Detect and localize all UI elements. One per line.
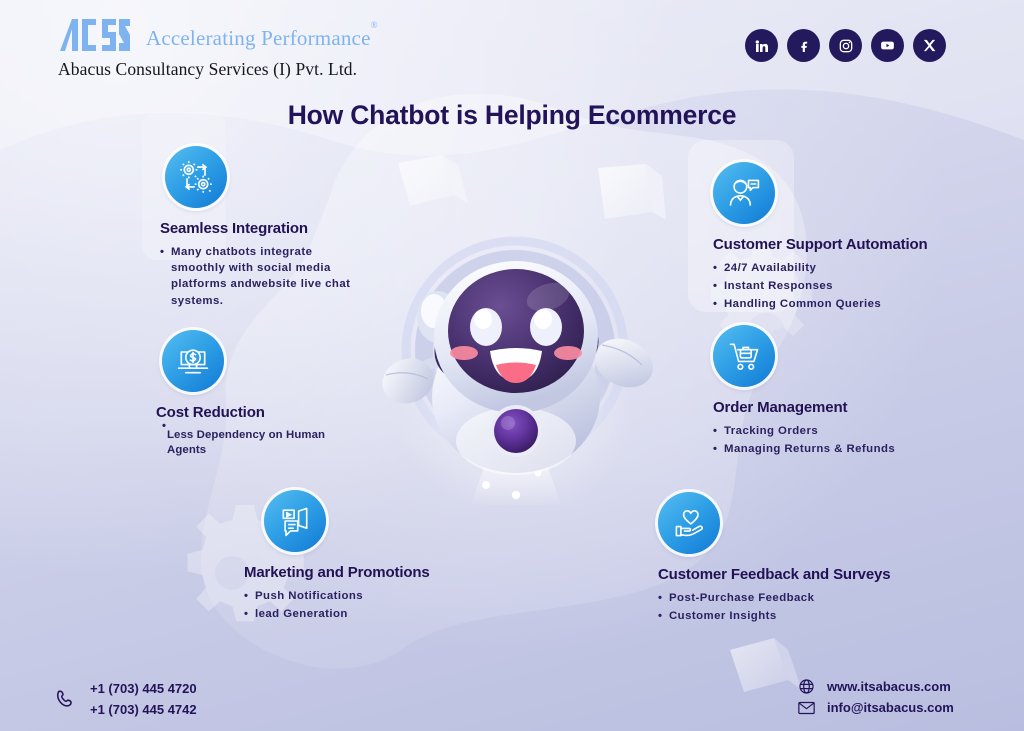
- floating-cube: [730, 638, 802, 692]
- website-text: www.itsabacus.com: [827, 679, 951, 694]
- bullet-item: Post-Purchase Feedback: [658, 590, 898, 606]
- feature-marketing-and-promotions: Marketing and Promotions Push Notificati…: [244, 490, 459, 624]
- feature-bullets: Push Notifications lead Generation: [244, 588, 459, 622]
- x-twitter-icon[interactable]: [913, 29, 946, 62]
- brand-tagline: Accelerating Performance®: [146, 28, 378, 49]
- feature-order-management: Order Management Tracking Orders Managin…: [713, 325, 928, 459]
- support-agent-icon: [713, 162, 775, 224]
- feature-bullets: Post-Purchase Feedback Customer Insights: [658, 590, 898, 624]
- feature-heading: Customer Support Automation: [713, 236, 943, 253]
- website-row[interactable]: www.itsabacus.com: [798, 678, 954, 695]
- youtube-icon[interactable]: [871, 29, 904, 62]
- page-title: How Chatbot is Helping Ecommerce: [0, 100, 1024, 131]
- feature-customer-support-automation: Customer Support Automation 24/7 Availab…: [713, 162, 943, 315]
- bullet-item: Customer Insights: [658, 608, 898, 624]
- brand-logo: Accelerating Performance® Abacus Consult…: [58, 18, 378, 80]
- feature-bullets: 24/7 Availability Instant Responses Hand…: [713, 260, 943, 313]
- feature-bullets: Less Dependency on Human Agents: [156, 428, 366, 459]
- phone-icon: [55, 688, 77, 710]
- feature-heading: Marketing and Promotions: [244, 564, 459, 581]
- contact-phone: +1 (703) 445 4720 +1 (703) 445 4742: [55, 678, 197, 720]
- envelope-icon: [798, 701, 815, 715]
- bullet-item: Managing Returns & Refunds: [713, 441, 928, 457]
- social-links: [745, 29, 946, 62]
- contact-web: www.itsabacus.com info@itsabacus.com: [798, 678, 954, 715]
- shopping-cart-icon: [713, 325, 775, 387]
- bullet-item: Instant Responses: [713, 278, 943, 294]
- email-text: info@itsabacus.com: [827, 700, 954, 715]
- feature-cost-reduction: Cost Reduction Less Dependency on Human …: [156, 330, 366, 461]
- bullet-item: 24/7 Availability: [713, 260, 943, 276]
- chatbot-robot-mascot: [366, 245, 666, 505]
- monitor-dollar-icon: [162, 330, 224, 392]
- feature-heading: Cost Reduction: [156, 404, 366, 421]
- feature-bullets: Tracking Orders Managing Returns & Refun…: [713, 423, 928, 457]
- infographic-canvas: Accelerating Performance® Abacus Consult…: [0, 0, 1024, 731]
- feature-seamless-integration: Seamless Integration Many chatbots integ…: [160, 146, 360, 311]
- company-name: Abacus Consultancy Services (I) Pvt. Ltd…: [58, 59, 378, 80]
- bullet-item: Tracking Orders: [713, 423, 928, 439]
- bullet-item: Many chatbots integrate smoothly with so…: [160, 244, 360, 309]
- feature-bullets: Many chatbots integrate smoothly with so…: [160, 244, 360, 309]
- feature-heading: Customer Feedback and Surveys: [658, 566, 898, 583]
- floating-cube: [598, 164, 666, 220]
- megaphone-chat-icon: [264, 490, 326, 552]
- phone-numbers: +1 (703) 445 4720 +1 (703) 445 4742: [90, 678, 197, 720]
- instagram-icon[interactable]: [829, 29, 862, 62]
- feature-heading: Order Management: [713, 399, 928, 416]
- linkedin-icon[interactable]: [745, 29, 778, 62]
- phone-number-1: +1 (703) 445 4720: [90, 678, 197, 699]
- feature-customer-feedback-and-surveys: Customer Feedback and Surveys Post-Purch…: [658, 492, 898, 626]
- feature-heading: Seamless Integration: [160, 220, 360, 237]
- globe-icon: [798, 678, 815, 695]
- hand-heart-icon: [658, 492, 720, 554]
- bullet-item: Less Dependency on Human Agents: [156, 428, 366, 459]
- email-row[interactable]: info@itsabacus.com: [798, 700, 954, 715]
- bullet-item: lead Generation: [244, 606, 459, 622]
- facebook-icon[interactable]: [787, 29, 820, 62]
- gears-exchange-icon: [165, 146, 227, 208]
- acs-logo-icon: [58, 18, 140, 52]
- bullet-item: Push Notifications: [244, 588, 459, 604]
- bullet-item: Handling Common Queries: [713, 296, 943, 312]
- phone-number-2: +1 (703) 445 4742: [90, 699, 197, 720]
